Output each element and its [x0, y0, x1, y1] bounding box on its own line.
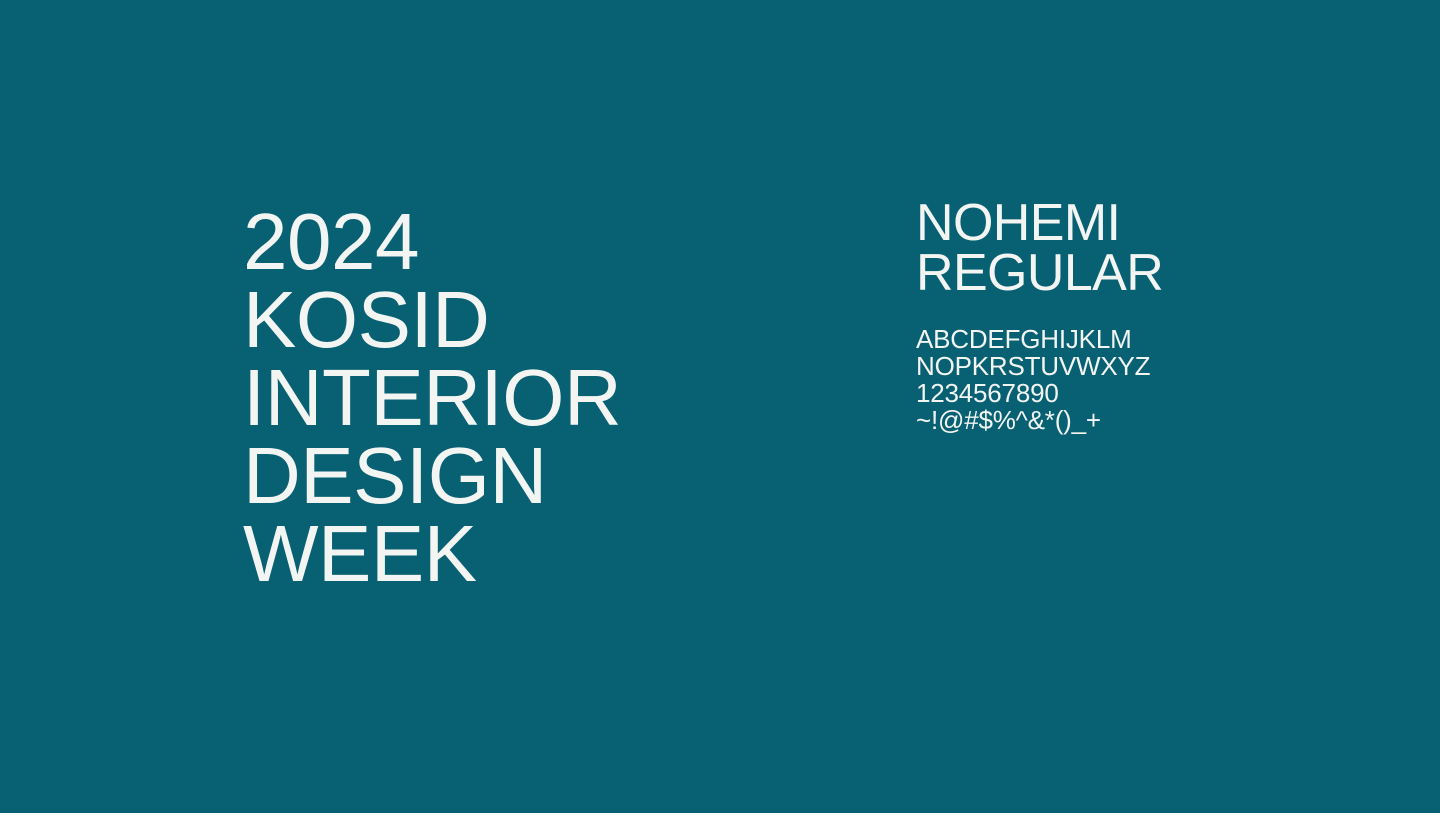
title-line-week: WEEK — [243, 515, 843, 593]
font-weight-name: REGULAR — [916, 248, 1336, 298]
font-name-heading: NOHEMI REGULAR — [916, 198, 1336, 298]
event-title-block: 2024 KOSID INTERIOR DESIGN WEEK — [243, 203, 843, 593]
title-line-year: 2024 — [243, 203, 843, 281]
character-set-list: ABCDEFGHIJKLM NOPKRSTUVWXYZ 1234567890 ~… — [916, 326, 1336, 434]
title-line-design: DESIGN — [243, 437, 843, 515]
font-family-name: NOHEMI — [916, 198, 1336, 248]
charset-line-uppercase-a-m: ABCDEFGHIJKLM — [916, 326, 1336, 353]
charset-line-numerals: 1234567890 — [916, 380, 1336, 407]
charset-line-symbols: ~!@#$%^&*()_+ — [916, 407, 1336, 434]
title-line-interior: INTERIOR — [243, 359, 843, 437]
title-line-org: KOSID — [243, 281, 843, 359]
charset-line-uppercase-n-z: NOPKRSTUVWXYZ — [916, 353, 1336, 380]
specimen-slide: 2024 KOSID INTERIOR DESIGN WEEK NOHEMI R… — [0, 0, 1440, 813]
font-specimen-block: NOHEMI REGULAR ABCDEFGHIJKLM NOPKRSTUVWX… — [916, 198, 1336, 434]
